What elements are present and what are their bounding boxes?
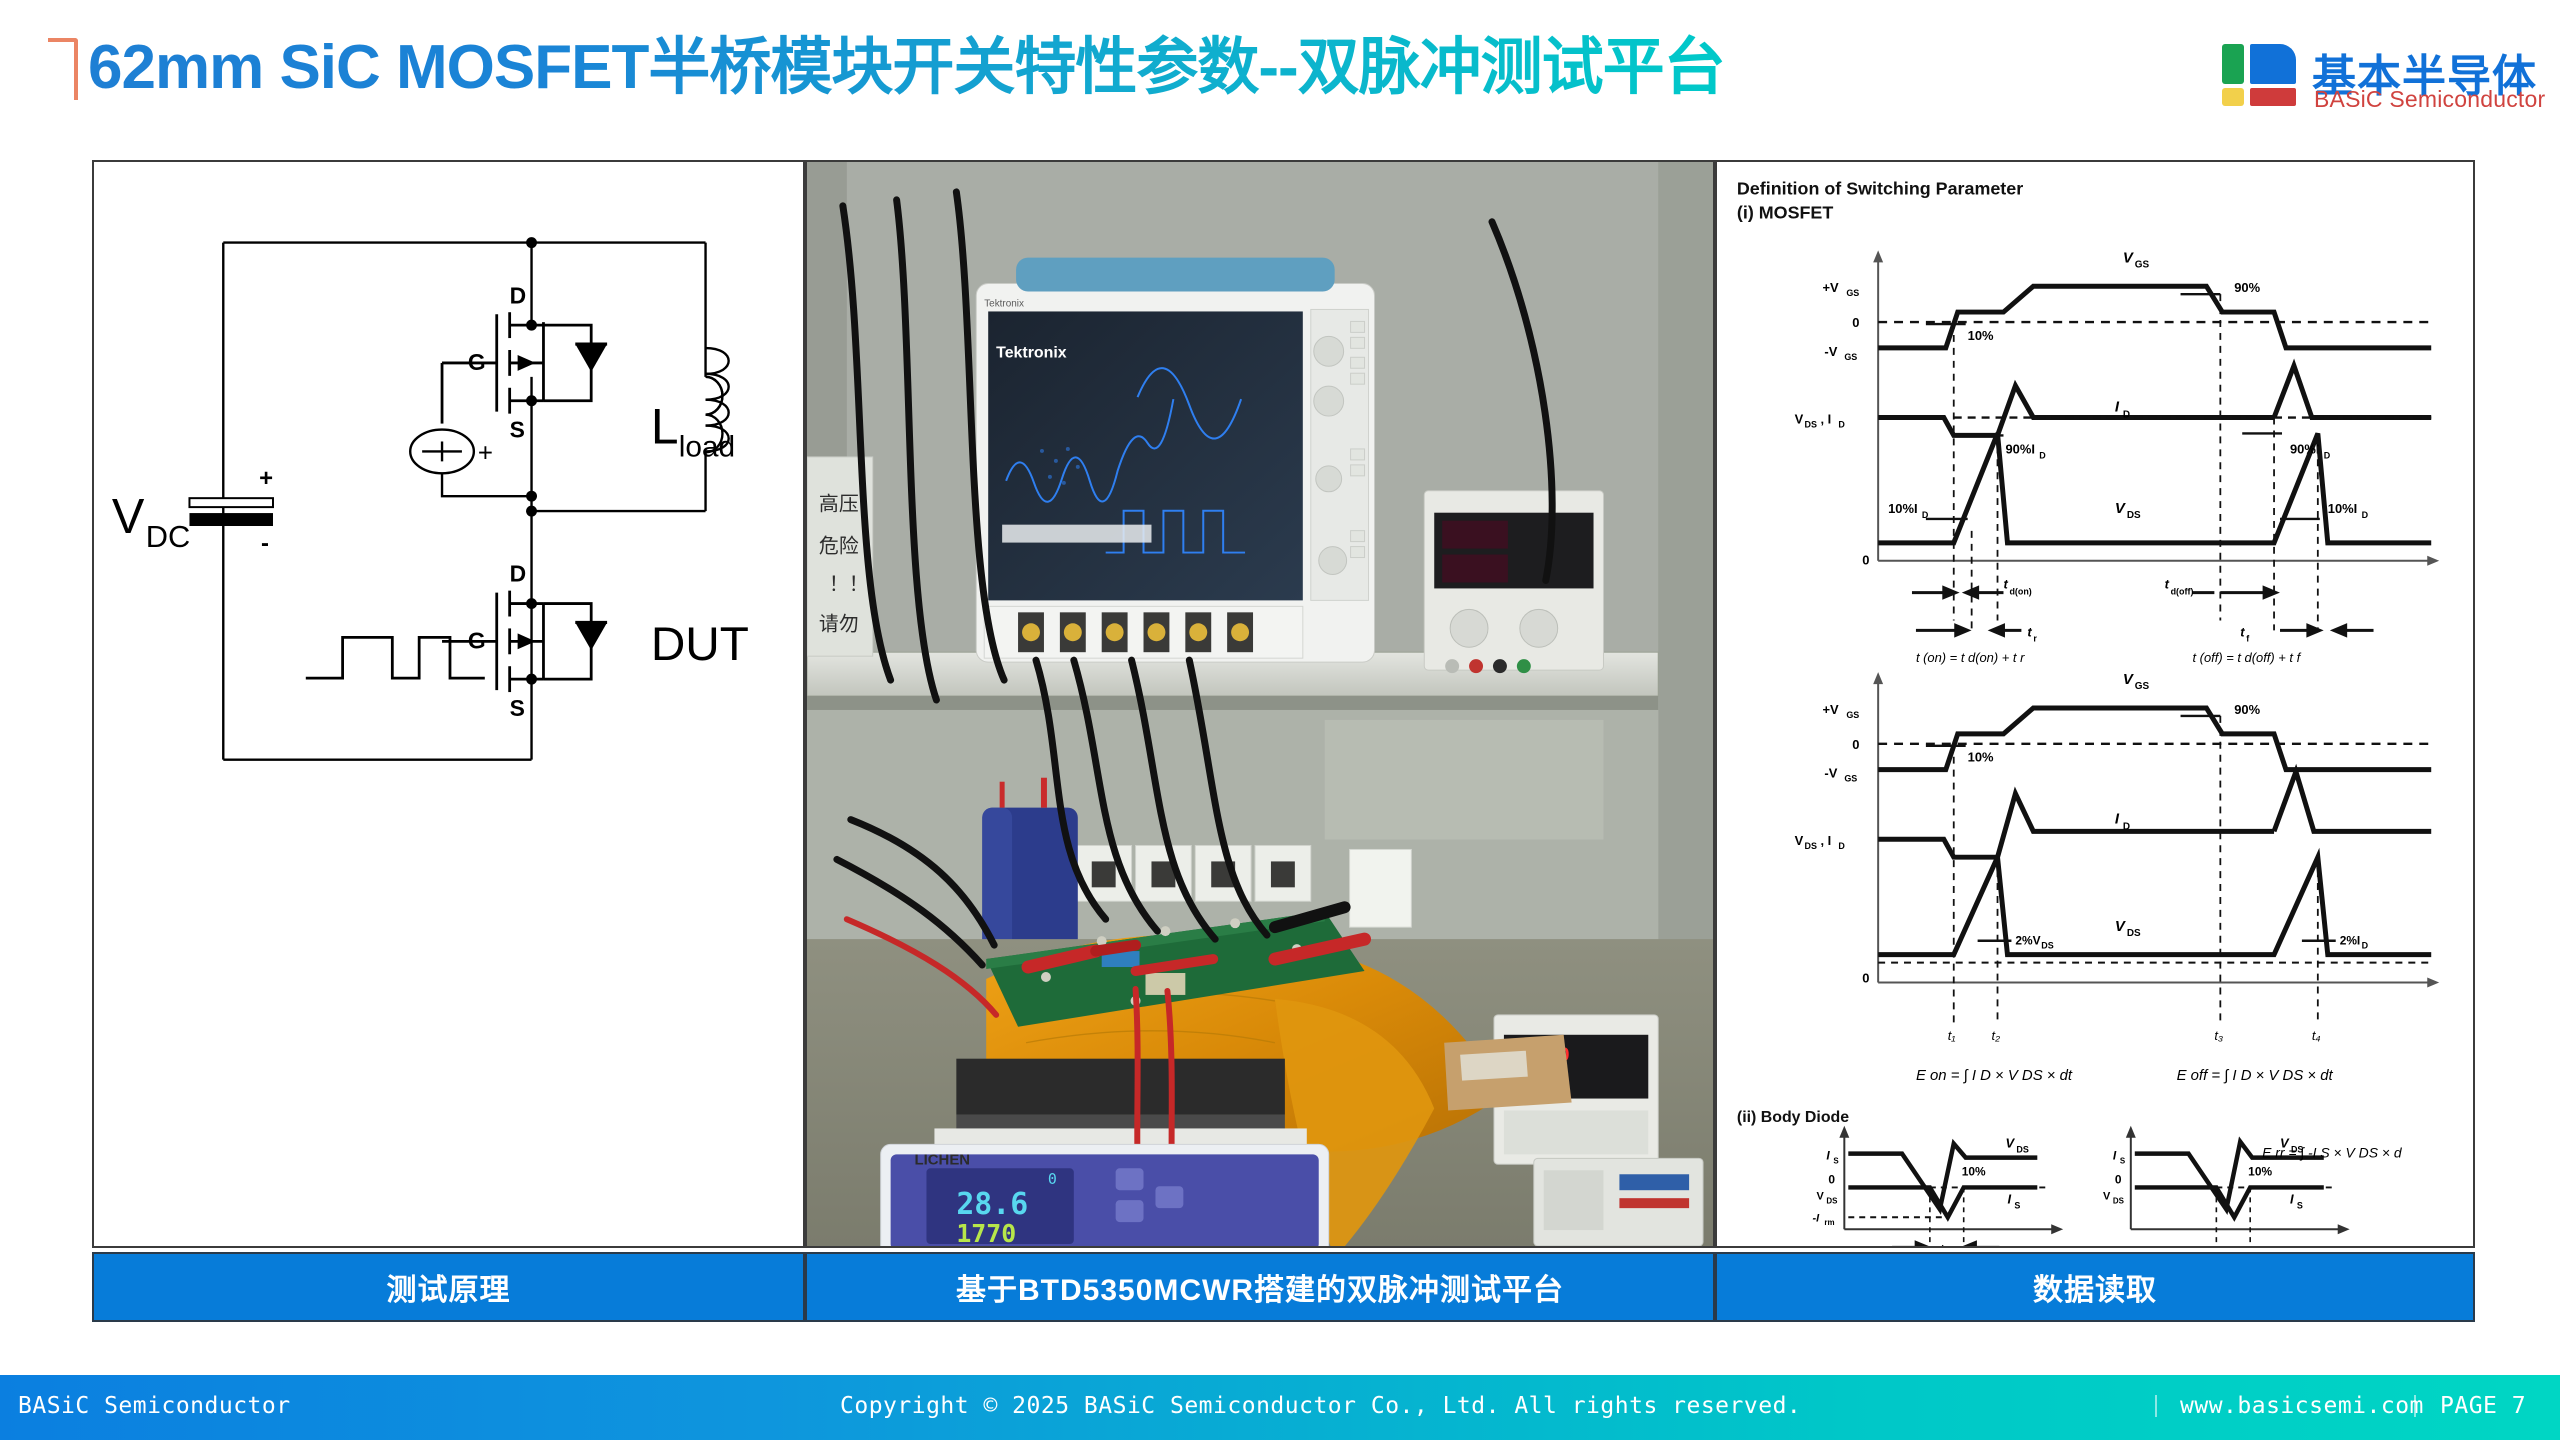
svg-text:DS: DS bbox=[2127, 510, 2141, 521]
chart2-t4-label: t₄ bbox=[2312, 1028, 2321, 1043]
chart2-eoff-equation: E off = ∫ I D × V DS × dt bbox=[2177, 1067, 2334, 1084]
double-pulse-waveform-icon bbox=[306, 637, 485, 678]
test-principle-panel: V DC + - bbox=[92, 160, 805, 1248]
lab-bench-photograph: Tektronix Tektronix bbox=[807, 162, 1713, 1246]
lower-gate-label: G bbox=[468, 627, 486, 653]
chart2-t2-label: t₂ bbox=[1992, 1028, 2001, 1043]
svg-text:0: 0 bbox=[1862, 971, 1869, 986]
svg-text:10%: 10% bbox=[1968, 750, 1994, 765]
svg-text:S: S bbox=[2297, 1200, 2303, 1210]
chart1-plus-vgs-label: +V bbox=[1822, 280, 1839, 295]
logo-english-name: BASiC Semiconductor bbox=[2314, 86, 2545, 113]
svg-text:D: D bbox=[2039, 450, 2046, 460]
svg-text:D: D bbox=[2324, 450, 2331, 460]
hotplate-zero-value: 0 bbox=[1048, 1170, 1057, 1188]
page-title: 62mm SiC MOSFET半桥模块开关特性参数--双脉冲测试平台 bbox=[88, 28, 1725, 108]
svg-text:I: I bbox=[2007, 1191, 2011, 1206]
heat-block bbox=[956, 1059, 1285, 1115]
caption-data-reading: 数据读取 bbox=[1715, 1252, 2475, 1322]
chart1-vgs-curve-label: V bbox=[2123, 249, 2134, 266]
company-logo: 基本半导体 BASiC Semiconductor bbox=[2222, 44, 2542, 106]
svg-text:GS: GS bbox=[2135, 681, 2150, 692]
hotplate-controller: LICHEN 0 28.6 1770 bbox=[881, 1144, 1329, 1246]
chart1-toff-equation: t (off) = t d(off) + t f bbox=[2192, 650, 2301, 665]
sheet-section-body-diode: (ii) Body Diode bbox=[1737, 1109, 1849, 1126]
chart1-90pct-label: 90% bbox=[2234, 280, 2260, 295]
switching-parameter-definition-figure: Definition of Switching Parameter (i) MO… bbox=[1717, 162, 2473, 1246]
svg-text:DS: DS bbox=[1826, 1196, 1837, 1205]
data-reading-panel: Definition of Switching Parameter (i) MO… bbox=[1715, 160, 2475, 1248]
svg-text:10%: 10% bbox=[2248, 1165, 2272, 1179]
svg-text:, I: , I bbox=[1820, 833, 1831, 848]
sheet-title: Definition of Switching Parameter bbox=[1737, 179, 2023, 199]
upper-body-arrow-icon bbox=[518, 355, 536, 371]
chart2-t1-label: t₁ bbox=[1948, 1028, 1956, 1043]
vdc-label: V bbox=[112, 490, 145, 544]
vdc-plus: + bbox=[259, 465, 273, 492]
svg-text:GS: GS bbox=[1844, 774, 1857, 784]
chart1-90pct-id-right: 90%I bbox=[2290, 441, 2319, 456]
svg-text:d(off): d(off) bbox=[2171, 587, 2194, 597]
svg-text:S: S bbox=[2120, 1157, 2125, 1166]
footer-copyright: Copyright © 2025 BASiC Semiconductor Co.… bbox=[840, 1393, 1801, 1419]
svg-text:D: D bbox=[2362, 510, 2369, 520]
lower-drain-label: D bbox=[510, 561, 527, 587]
chart1-tr-label: t bbox=[2027, 624, 2032, 639]
svg-text:V: V bbox=[2103, 1190, 2111, 1202]
chart1-zero-lower-label: 0 bbox=[1862, 553, 1869, 568]
chart1-zero-upper-label: 0 bbox=[1852, 315, 1859, 330]
svg-text:D: D bbox=[1838, 841, 1845, 851]
footer-page-number: PAGE 7 bbox=[2440, 1393, 2526, 1419]
svg-text:D: D bbox=[1922, 510, 1929, 520]
dc-source-symbol bbox=[189, 498, 273, 526]
oscilloscope: Tektronix Tektronix bbox=[976, 258, 1374, 663]
logo-red-block bbox=[2250, 88, 2296, 106]
svg-text:DS: DS bbox=[2016, 1145, 2028, 1155]
lower-body-arrow-icon bbox=[518, 633, 536, 649]
svg-text:GS: GS bbox=[1846, 288, 1859, 298]
chart1-vds-curve-label: V bbox=[2115, 500, 2126, 517]
svg-text:-I: -I bbox=[1812, 1212, 1820, 1224]
chart1-tdon-label: t bbox=[2003, 577, 2008, 592]
svg-text:+V: +V bbox=[1822, 702, 1839, 717]
title-accent-bracket-icon bbox=[48, 38, 78, 100]
chart1-vds-id-axis-label: V bbox=[1795, 411, 1804, 426]
svg-text:V: V bbox=[2123, 671, 2134, 688]
svg-text:d(on): d(on) bbox=[2009, 587, 2031, 597]
chart2-2pct-vds: 2%V bbox=[2015, 934, 2040, 948]
hotplate-temp-value: 28.6 bbox=[956, 1187, 1028, 1222]
cardboard-box bbox=[1444, 1035, 1571, 1111]
chart1-10pct-id-right: 10%I bbox=[2328, 501, 2357, 516]
svg-text:DS: DS bbox=[2041, 941, 2053, 951]
svg-text:90%: 90% bbox=[2234, 702, 2260, 717]
svg-text:DS: DS bbox=[2113, 1196, 2124, 1205]
inductor-label: L bbox=[651, 398, 679, 454]
page-footer: BASiC Semiconductor Copyright © 2025 BAS… bbox=[0, 1375, 2560, 1440]
svg-text:危险: 危险 bbox=[819, 535, 859, 558]
vdc-sub: DC bbox=[146, 519, 191, 554]
chart1-tdoff-label: t bbox=[2165, 577, 2170, 592]
svg-text:V: V bbox=[1795, 833, 1804, 848]
svg-text:D: D bbox=[2362, 941, 2369, 951]
upper-gate-label: G bbox=[468, 349, 486, 375]
upper-source-label: S bbox=[510, 417, 525, 443]
svg-text:D: D bbox=[2123, 410, 2130, 421]
svg-text:DS: DS bbox=[2127, 928, 2141, 939]
svg-text:0: 0 bbox=[1852, 737, 1859, 752]
svg-text:GS: GS bbox=[1844, 352, 1857, 362]
chart1-10pct-id-left: 10%I bbox=[1888, 501, 1917, 516]
chart2-2pct-id: 2%I bbox=[2340, 934, 2361, 948]
chart1-tf-label: t bbox=[2240, 624, 2245, 639]
page-header: 62mm SiC MOSFET半桥模块开关特性参数--双脉冲测试平台 基本半导体… bbox=[0, 0, 2560, 140]
svg-text:10%: 10% bbox=[1962, 1165, 1986, 1179]
svg-text:V: V bbox=[2115, 918, 2126, 935]
svg-text:V: V bbox=[1816, 1190, 1824, 1202]
double-pulse-test-circuit-diagram: V DC + - bbox=[94, 162, 803, 1246]
svg-text:Tektronix: Tektronix bbox=[984, 298, 1024, 309]
svg-text:V: V bbox=[2005, 1136, 2015, 1151]
svg-text:GS: GS bbox=[1846, 710, 1859, 720]
logo-yellow-block bbox=[2222, 88, 2244, 106]
footer-separator-2 bbox=[2414, 1395, 2416, 1417]
chart1-minus-vgs-label: -V bbox=[1824, 344, 1837, 359]
upper-body-diode-icon bbox=[575, 344, 607, 372]
footer-separator-1 bbox=[2155, 1395, 2157, 1417]
hotplate-setpoint-value: 1770 bbox=[956, 1219, 1016, 1246]
lower-source-label: S bbox=[510, 695, 525, 721]
svg-text:rm: rm bbox=[1824, 1218, 1834, 1227]
footer-website[interactable]: www.basicsemi.com bbox=[2180, 1393, 2424, 1419]
svg-text:, I: , I bbox=[1820, 411, 1831, 426]
upper-drain-label: D bbox=[510, 282, 527, 308]
svg-text:-V: -V bbox=[1824, 766, 1837, 781]
svg-text:D: D bbox=[2123, 821, 2130, 832]
svg-text:0: 0 bbox=[2115, 1172, 2122, 1186]
chart2-eon-equation: E on = ∫ I D × V DS × dt bbox=[1916, 1067, 2073, 1084]
logo-green-block bbox=[2222, 44, 2244, 84]
svg-text:r: r bbox=[2033, 633, 2037, 643]
gate-source-plus: + bbox=[478, 439, 493, 467]
logo-mark-icon bbox=[2222, 44, 2300, 106]
svg-text:S: S bbox=[1833, 1157, 1838, 1166]
chart1-90pct-id-left: 90%I bbox=[2005, 441, 2034, 456]
svg-text:DS: DS bbox=[1805, 841, 1817, 851]
caption-test-platform: 基于BTD5350MCWR搭建的双脉冲测试平台 bbox=[805, 1252, 1715, 1322]
chart1-10pct-label: 10% bbox=[1968, 328, 1994, 343]
electronic-load-unit bbox=[1534, 1158, 1703, 1246]
sheet-section-mosfet: (i) MOSFET bbox=[1737, 203, 1833, 223]
chart2-t3-label: t₃ bbox=[2214, 1028, 2223, 1043]
svg-text:！！: ！！ bbox=[829, 573, 869, 595]
chart1-ton-equation: t (on) = t d(on) + t r bbox=[1916, 650, 2025, 665]
svg-text:GS: GS bbox=[2135, 259, 2150, 270]
inductor-sub: load bbox=[679, 430, 735, 463]
chart3-err-equation: E rr = ∫ -I S × V DS × d bbox=[2262, 1145, 2403, 1162]
vdc-minus: - bbox=[261, 530, 269, 557]
caption-test-principle: 测试原理 bbox=[92, 1252, 805, 1322]
svg-text:请勿: 请勿 bbox=[819, 612, 859, 635]
footer-brand: BASiC Semiconductor bbox=[18, 1393, 291, 1419]
svg-text:S: S bbox=[2014, 1200, 2020, 1210]
lower-body-diode-icon bbox=[575, 622, 607, 650]
svg-text:D: D bbox=[1838, 419, 1845, 429]
hotplate-brand-label: LICHEN bbox=[915, 1151, 971, 1168]
svg-text:高压: 高压 bbox=[819, 493, 859, 516]
svg-text:I: I bbox=[2290, 1191, 2294, 1206]
svg-text:f: f bbox=[2246, 633, 2249, 643]
dut-label: DUT bbox=[651, 618, 749, 671]
logo-blue-block bbox=[2250, 44, 2296, 84]
bench-power-supply-top bbox=[1424, 491, 1603, 673]
test-platform-photo-panel: Tektronix Tektronix bbox=[805, 160, 1715, 1248]
scope-brand-label: Tektronix bbox=[996, 344, 1067, 361]
svg-text:DS: DS bbox=[1805, 419, 1817, 429]
svg-text:0: 0 bbox=[1828, 1172, 1835, 1186]
